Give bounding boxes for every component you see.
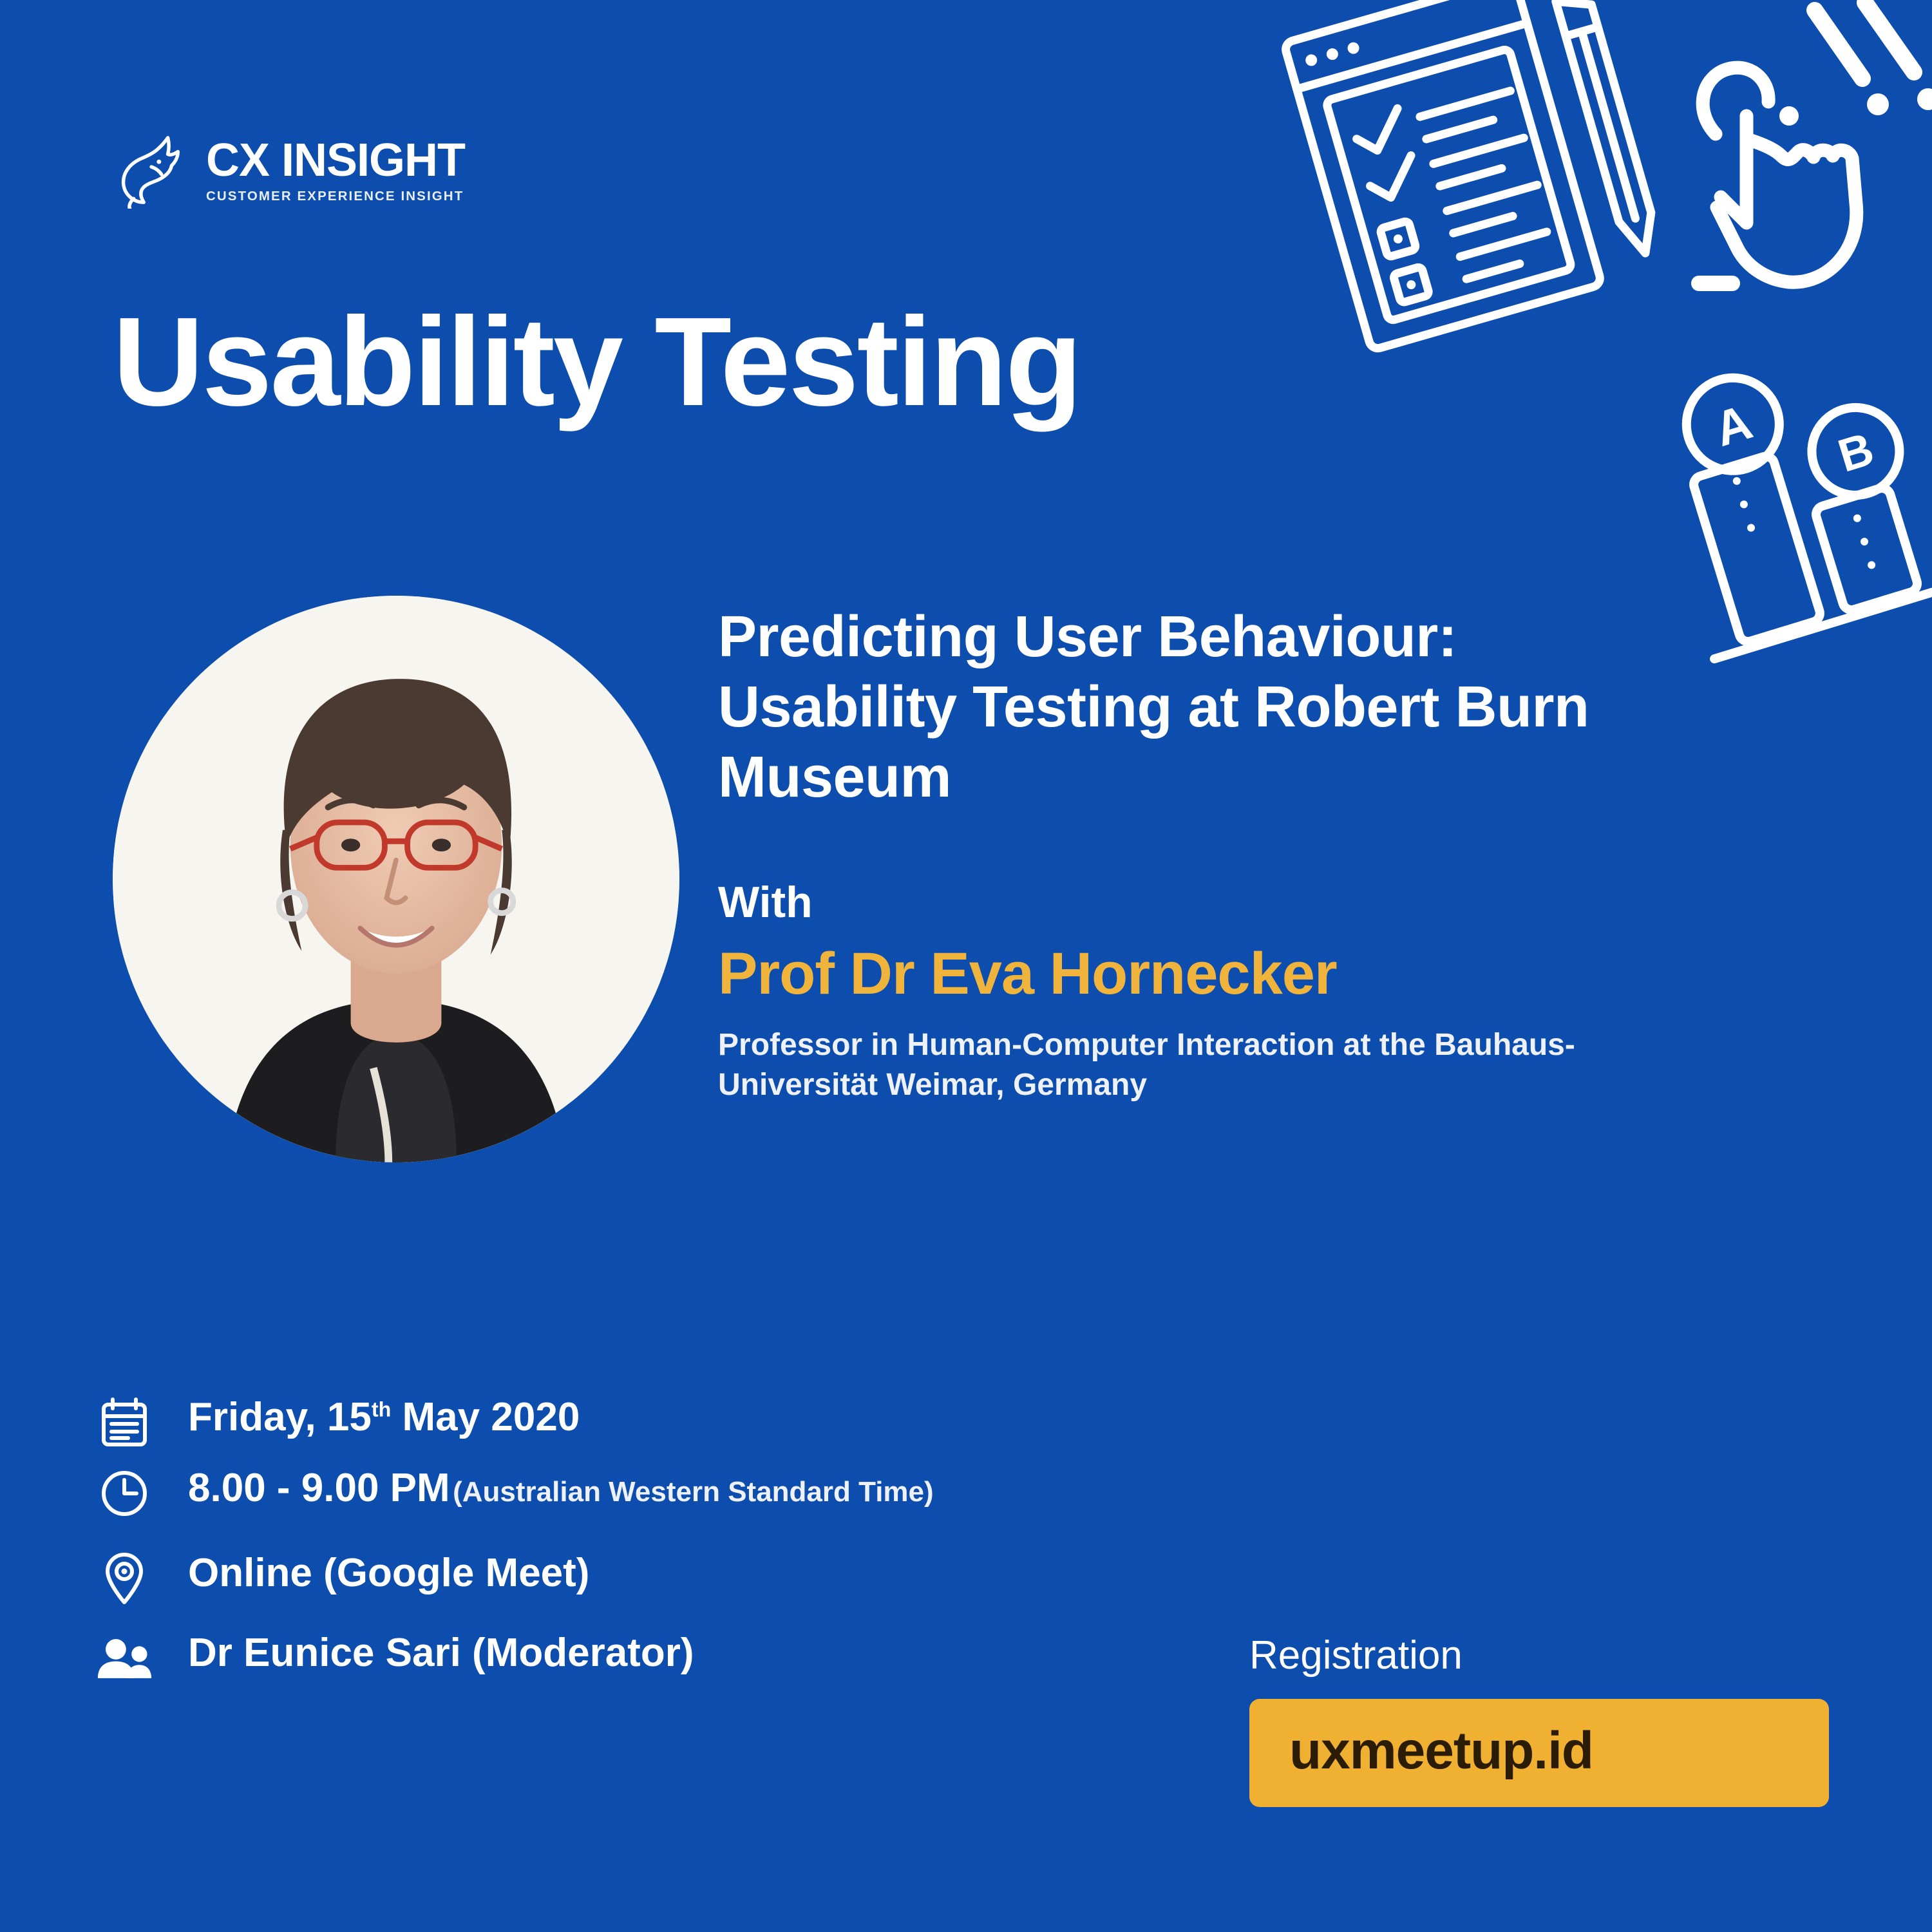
checklist-document-icon xyxy=(1263,0,1705,372)
detail-location-text: Online (Google Meet) xyxy=(188,1551,589,1595)
detail-row-moderator: Dr Eunice Sari (Moderator) xyxy=(97,1631,1191,1686)
speaker-portrait xyxy=(113,596,679,1162)
detail-row-time: 8.00 - 9.00 PM (Australian Western Stand… xyxy=(97,1466,1191,1521)
with-label: With xyxy=(718,880,1697,924)
speaker-name: Prof Dr Eva Hornecker xyxy=(718,943,1697,1005)
detail-row-date: Friday, 15th May 2020 xyxy=(97,1395,1191,1450)
svg-text:A: A xyxy=(1709,395,1758,457)
pointing-hand-icon xyxy=(1674,19,1932,322)
page-title: Usability Testing xyxy=(113,298,1081,426)
detail-moderator-text: Dr Eunice Sari (Moderator) xyxy=(188,1631,694,1675)
location-pin-icon xyxy=(97,1551,152,1606)
registration-label: Registration xyxy=(1249,1636,1868,1676)
svg-text:B: B xyxy=(1832,423,1879,482)
detail-row-location: Online (Google Meet) xyxy=(97,1551,1191,1606)
clock-icon xyxy=(97,1466,152,1521)
ab-test-bars-icon: A B xyxy=(1668,351,1932,692)
speaker-affiliation: Professor in Human-Computer Interaction … xyxy=(718,1025,1671,1104)
calendar-icon xyxy=(97,1395,152,1450)
detail-time-text: 8.00 - 9.00 PM xyxy=(188,1466,450,1510)
logo-tagline: CUSTOMER EXPERIENCE INSIGHT xyxy=(206,189,465,204)
detail-date-text: Friday, 15th May 2020 xyxy=(188,1395,580,1439)
session-info: Predicting User Behaviour: Usability Tes… xyxy=(718,602,1697,1104)
horse-head-icon xyxy=(115,133,191,209)
event-details: Friday, 15th May 2020 8.00 - 9.00 PM (Au… xyxy=(97,1395,1191,1686)
registration-section: Registration uxmeetup.id xyxy=(1249,1636,1868,1807)
exclamation-marks-icon xyxy=(1803,0,1932,167)
detail-timezone-text: (Australian Western Standard Time) xyxy=(453,1476,934,1508)
brand-logo: CX INSIGHT CUSTOMER EXPERIENCE INSIGHT xyxy=(115,133,465,209)
registration-link-button[interactable]: uxmeetup.id xyxy=(1249,1699,1829,1807)
session-topic: Predicting User Behaviour: Usability Tes… xyxy=(718,602,1645,813)
logo-wordmark: CX INSIGHT xyxy=(206,137,465,184)
people-icon xyxy=(97,1631,152,1686)
